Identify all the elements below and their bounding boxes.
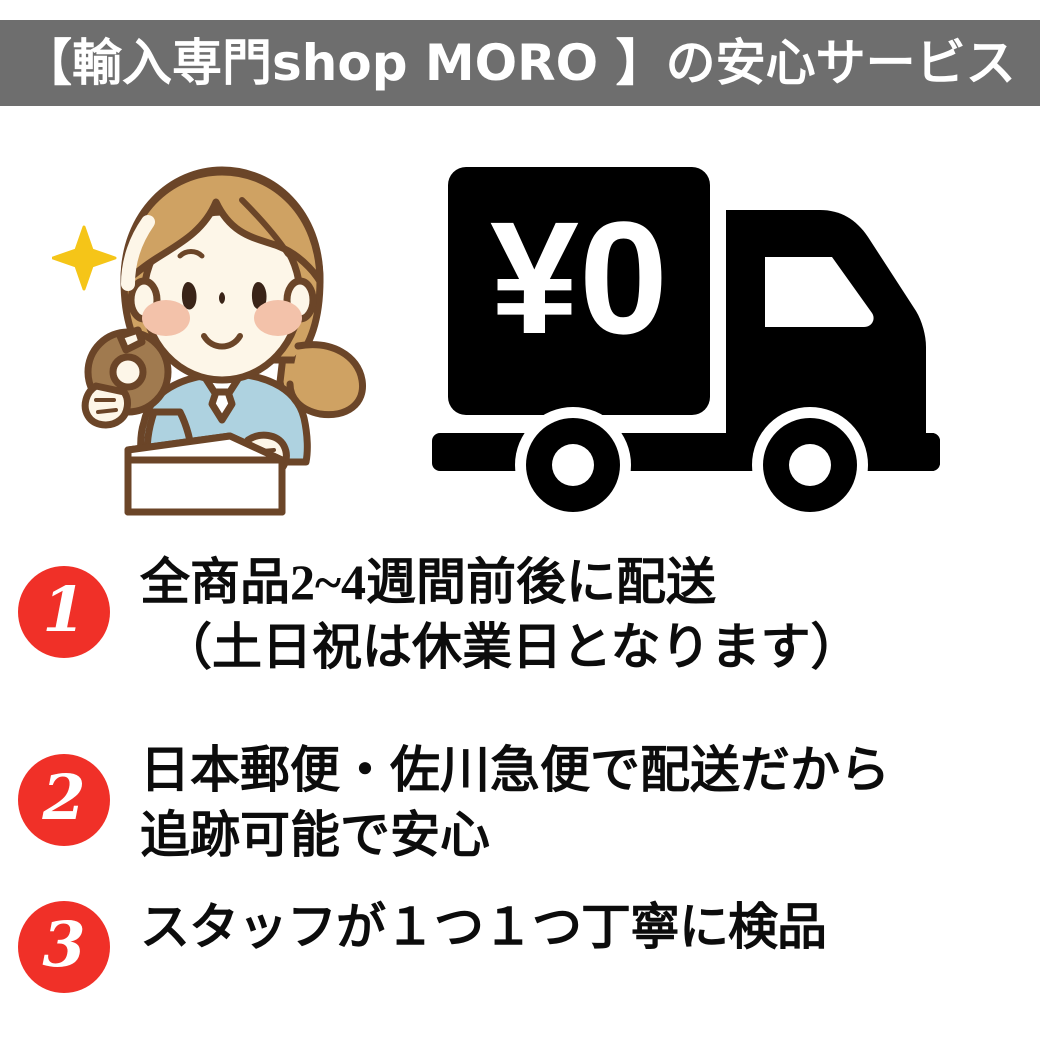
service-item-2-text: 日本郵便・佐川急便で配送だから 追跡可能で安心 — [140, 738, 1040, 868]
delivery-truck-free-shipping-icon: ¥0 — [420, 145, 980, 525]
service-number-badge-2: 2 — [18, 754, 110, 846]
woman-packing-box-illustration — [52, 160, 392, 520]
service-item-2-line-1: 日本郵便・佐川急便で配送だから — [140, 738, 1040, 803]
service-item-3-text: スタッフが１つ１つ丁寧に検品 — [140, 895, 1040, 960]
service-item-3-line-1: スタッフが１つ１つ丁寧に検品 — [140, 895, 1040, 960]
service-number-badge-1: 1 — [18, 566, 110, 658]
service-number-badge-3: 3 — [18, 901, 110, 993]
illustration-row: ¥0 — [0, 120, 1040, 520]
header-banner: 【輸入専門shop MORO 】の安心サービス — [0, 20, 1040, 106]
service-item-1-text: 全商品2~4週間前後に配送 （土日祝は休業日となります） — [140, 550, 1040, 680]
service-item-2-line-2: 追跡可能で安心 — [140, 803, 1040, 868]
truck-cargo-label: ¥0 — [490, 188, 668, 367]
service-item-1-line-2: （土日祝は休業日となります） — [162, 615, 1040, 680]
service-item-1-line-1: 全商品2~4週間前後に配送 — [140, 550, 1040, 615]
page-title: 【輸入専門shop MORO 】の安心サービス — [22, 38, 1016, 88]
